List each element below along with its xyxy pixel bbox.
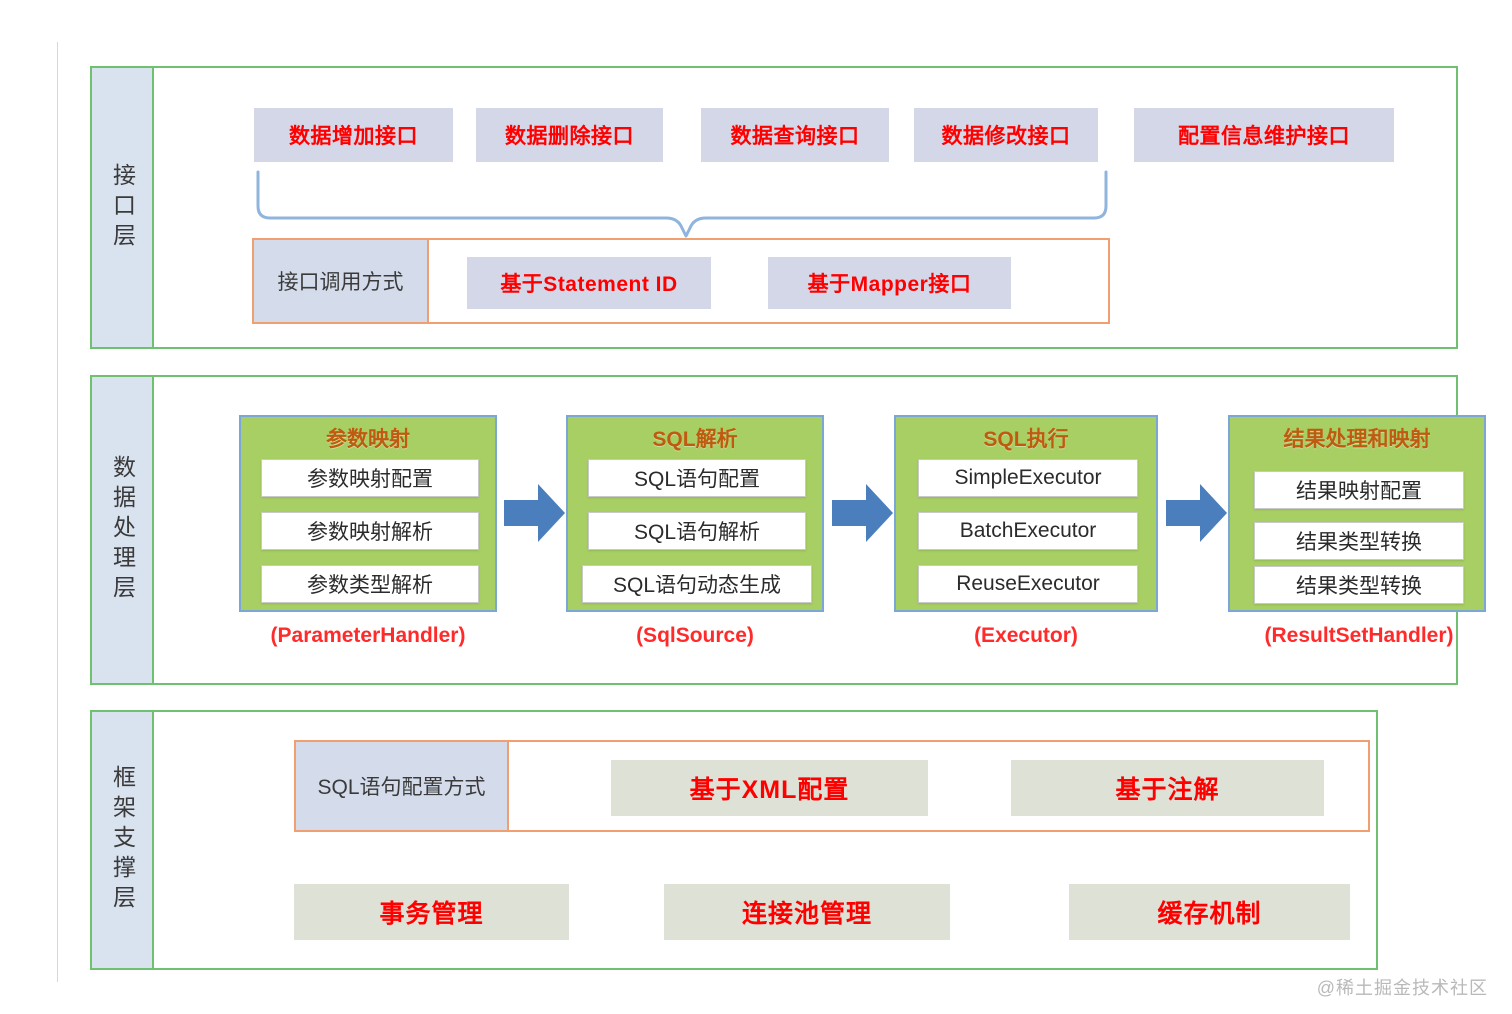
feature-cache-mechanism[interactable]: 缓存机制	[1069, 884, 1350, 940]
module-executor-caption: (Executor)	[894, 624, 1158, 648]
feature-cache-mechanism-label: 缓存机制	[1157, 894, 1261, 930]
module-sql-source-item-2[interactable]: SQL语句解析	[588, 512, 806, 550]
sql-config-head-label: SQL语句配置方式	[317, 771, 485, 801]
call-mode-mapper-label: 基于Mapper接口	[808, 268, 972, 298]
module-sql-source-item-3[interactable]: SQL语句动态生成	[582, 565, 812, 603]
module-parameter-handler-title: 参数映射	[241, 423, 495, 453]
module-executor-item-1-label: SimpleExecutor	[954, 466, 1101, 490]
sql-config-option-xml-label: 基于XML配置	[690, 770, 850, 806]
module-result-set-handler-item-1-label: 结果映射配置	[1296, 475, 1422, 505]
module-sql-source-item-3-label: SQL语句动态生成	[613, 569, 781, 599]
module-executor-item-1[interactable]: SimpleExecutor	[918, 459, 1138, 497]
interface-box-add-label: 数据增加接口	[289, 120, 418, 150]
flow-arrow-1-icon	[504, 482, 566, 544]
interface-box-delete[interactable]: 数据删除接口	[476, 108, 663, 162]
framework-layer-panel: 框架支撑层 SQL语句配置方式 基于XML配置 基于注解 事务管理 连接池管理	[90, 710, 1378, 970]
feature-connection-pool-management[interactable]: 连接池管理	[664, 884, 950, 940]
module-sql-source-item-2-label: SQL语句解析	[634, 516, 760, 546]
interface-box-update-label: 数据修改接口	[942, 120, 1071, 150]
call-mode-statement-id[interactable]: 基于Statement ID	[467, 257, 711, 309]
interface-call-mode-frame: 接口调用方式 基于Statement ID 基于Mapper接口	[252, 238, 1110, 324]
module-executor-title: SQL执行	[896, 423, 1156, 453]
interface-call-mode-head-label: 接口调用方式	[278, 266, 404, 296]
module-result-set-handler-item-3-label: 结果类型转换	[1296, 570, 1422, 600]
interface-box-add[interactable]: 数据增加接口	[254, 108, 453, 162]
flow-arrow-3-icon	[1166, 482, 1228, 544]
module-result-set-handler-item-2[interactable]: 结果类型转换	[1254, 522, 1464, 560]
module-sql-source[interactable]: SQL解析 SQL语句配置 SQL语句解析 SQL语句动态生成	[566, 415, 824, 612]
interface-layer-label: 接口层	[92, 68, 154, 347]
interface-box-query-label: 数据查询接口	[731, 120, 860, 150]
module-result-set-handler-item-2-label: 结果类型转换	[1296, 526, 1422, 556]
framework-layer-label: 框架支撑层	[92, 712, 154, 968]
flow-arrow-2-icon	[832, 482, 894, 544]
data-process-layer-label: 数据处理层	[92, 377, 154, 683]
module-result-set-handler-caption: (ResultSetHandler)	[1214, 624, 1504, 648]
data-process-layer-panel: 数据处理层 参数映射 参数映射配置 参数映射解析 参数类型解析 (Paramet…	[90, 375, 1458, 685]
brace-connector-icon	[252, 166, 1112, 238]
interface-box-config-maintain[interactable]: 配置信息维护接口	[1134, 108, 1394, 162]
module-sql-source-title: SQL解析	[568, 423, 822, 453]
module-sql-source-item-1-label: SQL语句配置	[634, 463, 760, 493]
interface-layer-panel: 接口层 数据增加接口 数据删除接口 数据查询接口 数据修改接口 配置信息维护接口	[90, 66, 1458, 349]
module-parameter-handler-caption: (ParameterHandler)	[239, 624, 497, 648]
interface-box-update[interactable]: 数据修改接口	[914, 108, 1098, 162]
sql-config-option-xml[interactable]: 基于XML配置	[611, 760, 928, 816]
diagram-canvas: 接口层 数据增加接口 数据删除接口 数据查询接口 数据修改接口 配置信息维护接口	[0, 0, 1512, 1014]
module-result-set-handler-caption-text: (ResultSetHandler)	[1264, 624, 1453, 647]
sql-config-frame: SQL语句配置方式 基于XML配置 基于注解	[294, 740, 1370, 832]
module-sql-source-item-1[interactable]: SQL语句配置	[588, 459, 806, 497]
framework-layer-label-text: 框架支撑层	[111, 765, 134, 915]
data-process-layer-label-text: 数据处理层	[111, 455, 134, 605]
call-mode-statement-id-label: 基于Statement ID	[500, 268, 677, 298]
module-result-set-handler-title: 结果处理和映射	[1230, 423, 1484, 453]
left-vertical-rule	[57, 42, 58, 982]
module-executor-item-2-label: BatchExecutor	[960, 519, 1097, 543]
call-mode-mapper[interactable]: 基于Mapper接口	[768, 257, 1011, 309]
sql-config-head: SQL语句配置方式	[296, 742, 509, 830]
feature-transaction-management[interactable]: 事务管理	[294, 884, 569, 940]
module-parameter-handler-item-1-label: 参数映射配置	[307, 463, 433, 493]
module-result-set-handler-item-3[interactable]: 结果类型转换	[1254, 566, 1464, 604]
module-result-set-handler[interactable]: 结果处理和映射 结果映射配置 结果类型转换 结果类型转换	[1228, 415, 1486, 612]
interface-box-delete-label: 数据删除接口	[505, 120, 634, 150]
module-result-set-handler-item-1[interactable]: 结果映射配置	[1254, 471, 1464, 509]
sql-config-option-annotation-label: 基于注解	[1115, 770, 1219, 806]
module-parameter-handler-item-3-label: 参数类型解析	[307, 569, 433, 599]
module-executor-item-3-label: ReuseExecutor	[956, 572, 1100, 596]
module-sql-source-caption: (SqlSource)	[566, 624, 824, 648]
module-parameter-handler-item-3[interactable]: 参数类型解析	[261, 565, 479, 603]
interface-layer-body: 数据增加接口 数据删除接口 数据查询接口 数据修改接口 配置信息维护接口 接口调	[154, 68, 1456, 347]
feature-connection-pool-management-label: 连接池管理	[742, 894, 872, 930]
module-parameter-handler-caption-text: (ParameterHandler)	[271, 624, 466, 647]
sql-config-option-annotation[interactable]: 基于注解	[1011, 760, 1324, 816]
module-executor[interactable]: SQL执行 SimpleExecutor BatchExecutor Reuse…	[894, 415, 1158, 612]
feature-transaction-management-label: 事务管理	[379, 894, 483, 930]
watermark: @稀土掘金技术社区	[1317, 974, 1488, 1000]
module-sql-source-caption-text: (SqlSource)	[636, 624, 754, 647]
module-parameter-handler-item-1[interactable]: 参数映射配置	[261, 459, 479, 497]
interface-layer-label-text: 接口层	[111, 163, 134, 253]
module-parameter-handler-item-2-label: 参数映射解析	[307, 516, 433, 546]
interface-box-config-maintain-label: 配置信息维护接口	[1178, 120, 1350, 150]
interface-box-query[interactable]: 数据查询接口	[701, 108, 889, 162]
module-parameter-handler[interactable]: 参数映射 参数映射配置 参数映射解析 参数类型解析	[239, 415, 497, 612]
module-executor-caption-text: (Executor)	[974, 624, 1078, 647]
interface-call-mode-head: 接口调用方式	[254, 240, 429, 322]
data-process-layer-body: 参数映射 参数映射配置 参数映射解析 参数类型解析 (ParameterHand…	[154, 377, 1456, 683]
module-executor-item-3[interactable]: ReuseExecutor	[918, 565, 1138, 603]
framework-layer-body: SQL语句配置方式 基于XML配置 基于注解 事务管理 连接池管理 缓存机制	[154, 712, 1376, 968]
module-executor-item-2[interactable]: BatchExecutor	[918, 512, 1138, 550]
module-parameter-handler-item-2[interactable]: 参数映射解析	[261, 512, 479, 550]
